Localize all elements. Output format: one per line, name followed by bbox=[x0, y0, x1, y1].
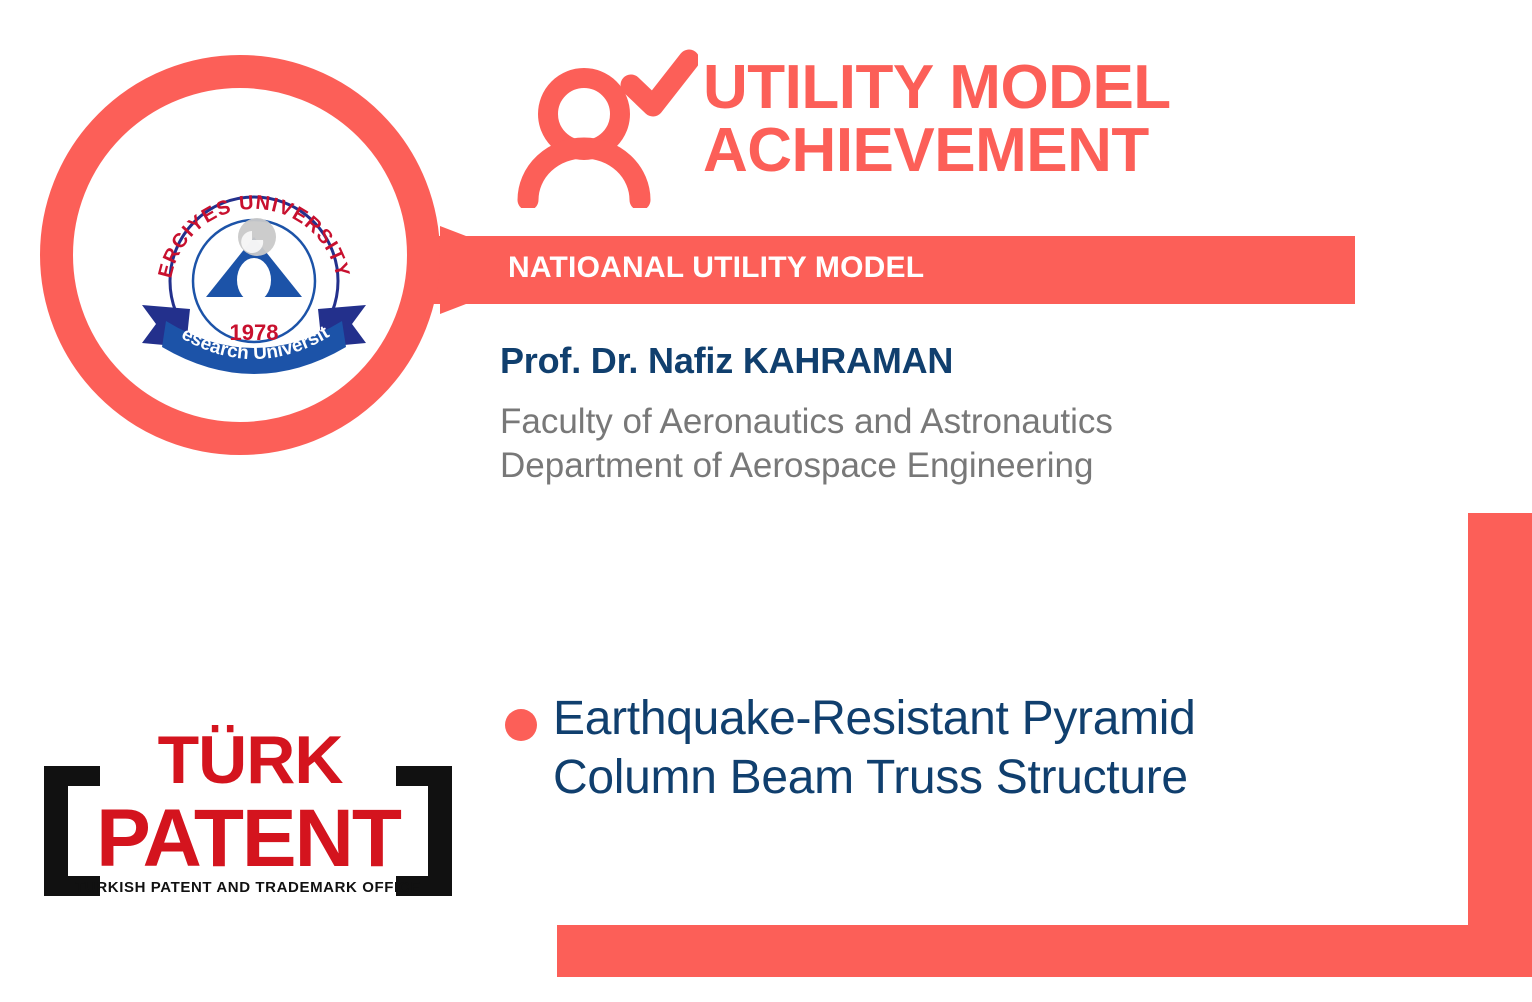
turk-patent-logo: TÜRK PATENT TURKISH PATENT AND TRADEMARK… bbox=[38, 718, 458, 908]
person-check-icon bbox=[516, 48, 698, 208]
svg-text:PATENT: PATENT bbox=[96, 793, 402, 884]
person-name: Prof. Dr. Nafiz KAHRAMAN bbox=[500, 340, 953, 382]
invention-title-line1: Earthquake-Resistant Pyramid bbox=[553, 690, 1353, 749]
svg-text:TÜRK: TÜRK bbox=[158, 722, 344, 798]
svg-text:TURKISH PATENT AND TRADEMARK O: TURKISH PATENT AND TRADEMARK OFFICE bbox=[75, 879, 421, 896]
corner-bracket-horizontal bbox=[557, 925, 1532, 977]
poster-canvas: ERCIYES UNIVERSITY 1978 Research Univers… bbox=[0, 0, 1532, 1002]
page-title-line1: UTILITY MODEL bbox=[703, 53, 1171, 122]
banner-label: NATIOANAL UTILITY MODEL bbox=[508, 251, 924, 285]
erciyes-university-emblem: ERCIYES UNIVERSITY 1978 Research Univers… bbox=[140, 175, 368, 375]
category-banner: NATIOANAL UTILITY MODEL bbox=[440, 236, 1355, 304]
svg-text:1978: 1978 bbox=[230, 320, 279, 345]
invention-title: Earthquake-Resistant Pyramid Column Beam… bbox=[553, 690, 1353, 807]
page-title-line2: ACHIEVEMENT bbox=[703, 119, 1343, 182]
person-affiliation: Faculty of Aeronautics and Astronautics … bbox=[500, 400, 1113, 488]
affiliation-line2: Department of Aerospace Engineering bbox=[500, 444, 1113, 488]
bullet-dot bbox=[505, 709, 537, 741]
invention-title-line2: Column Beam Truss Structure bbox=[553, 749, 1353, 808]
banner-tail bbox=[440, 226, 466, 314]
affiliation-line1: Faculty of Aeronautics and Astronautics bbox=[500, 400, 1113, 444]
corner-bracket-vertical bbox=[1468, 513, 1532, 977]
page-title: UTILITY MODEL ACHIEVEMENT bbox=[703, 56, 1343, 182]
